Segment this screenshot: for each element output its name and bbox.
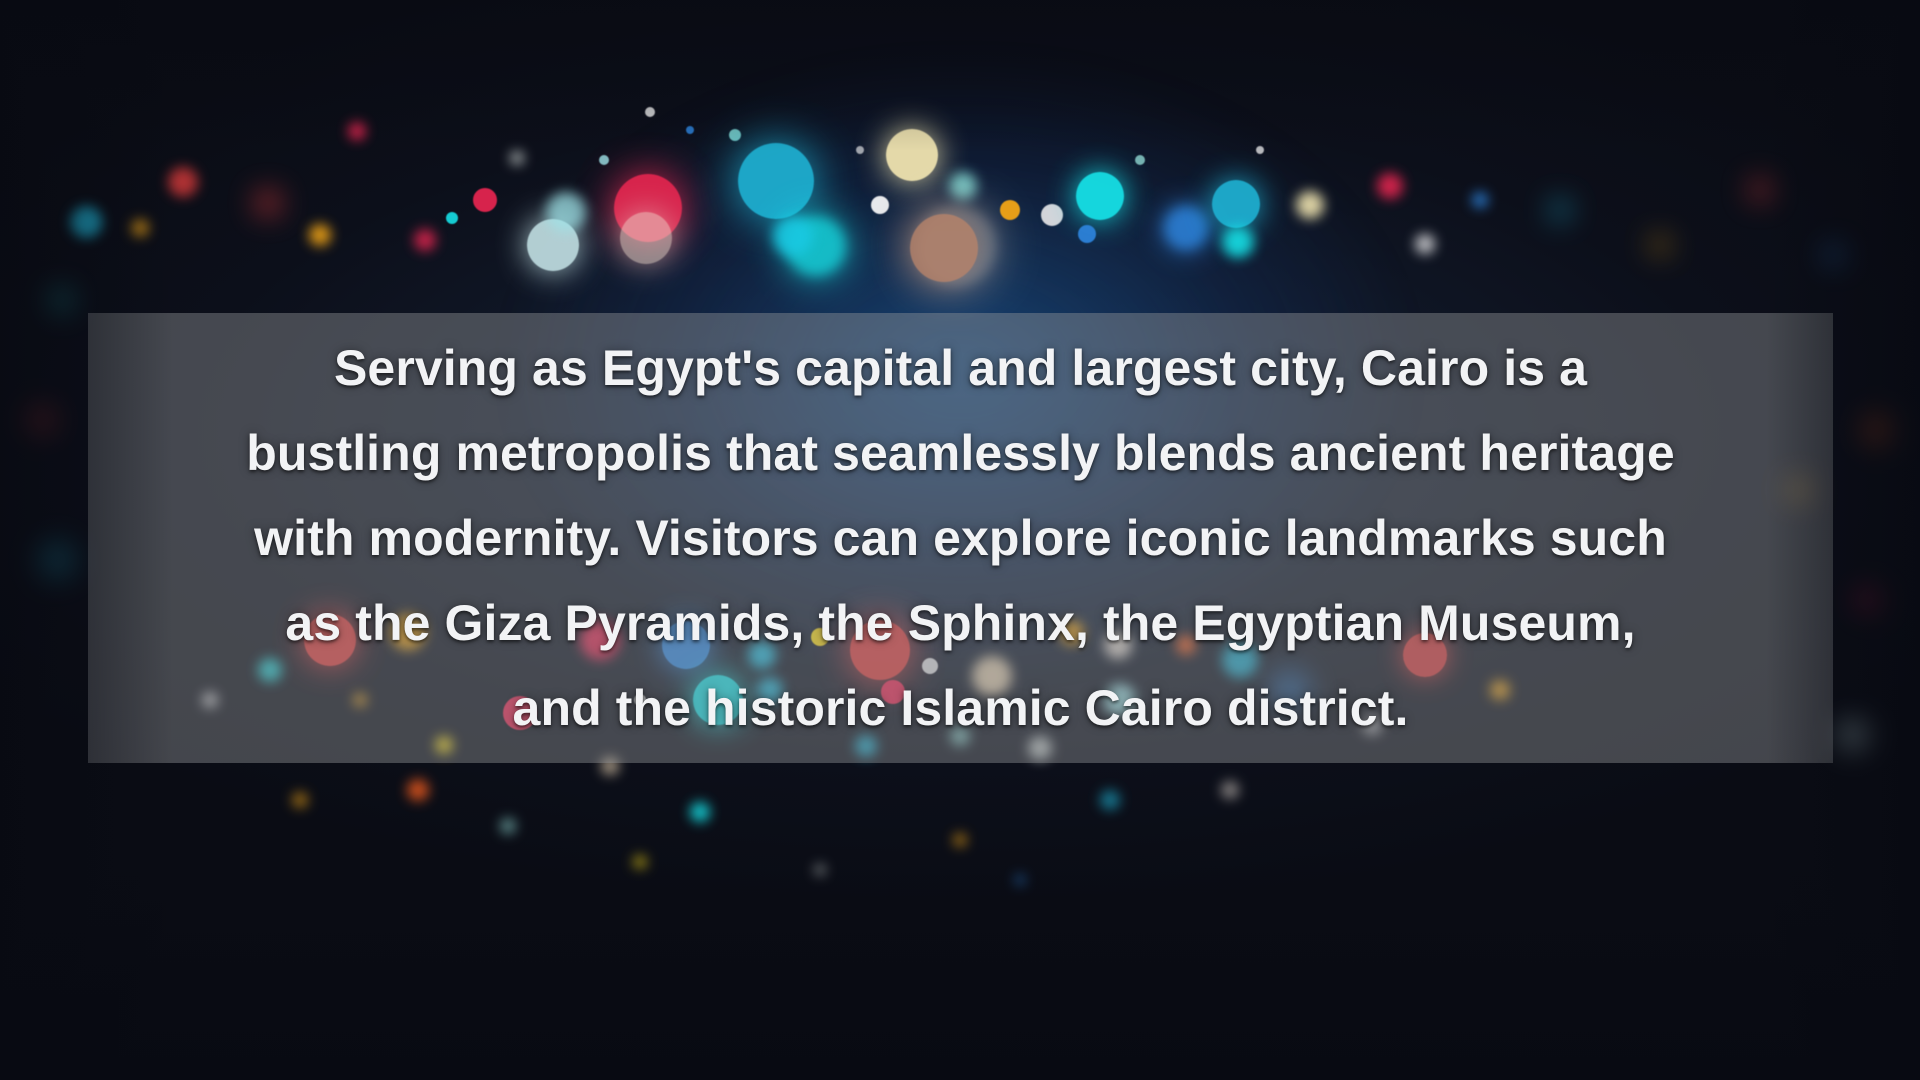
bokeh-dot [1078,225,1096,243]
bokeh-dot [686,126,694,134]
bokeh-dot [1839,719,1871,751]
bokeh-dot [546,192,586,232]
bokeh-dot [1041,204,1063,226]
bokeh-dot [35,540,75,580]
bokeh-dot [1014,874,1026,886]
bokeh-dot [871,196,889,214]
bokeh-dot [348,122,366,140]
bokeh-dot [599,155,609,165]
bokeh-dot [309,224,331,246]
bokeh-dot [1076,172,1124,220]
bokeh-dot [1222,226,1254,258]
bokeh-dot [949,172,977,200]
bokeh-banner-image: Serving as Egypt's capital and largest c… [0,0,1920,1080]
bokeh-dot [814,864,826,876]
bokeh-dot [407,779,429,801]
bokeh-dot [70,206,102,238]
bokeh-dot [910,214,978,282]
bokeh-dot [1100,790,1120,810]
bokeh-dot [446,212,458,224]
bokeh-dot [690,802,710,822]
bokeh-dot [131,219,149,237]
bokeh-dot [1862,412,1898,448]
bokeh-dot [645,107,655,117]
bokeh-dot [1296,191,1324,219]
bokeh-dot [168,167,198,197]
bokeh-dot [48,288,72,312]
bokeh-dot [510,151,524,165]
bokeh-dot [1221,781,1239,799]
bokeh-dot [738,143,814,219]
bokeh-dot [953,833,967,847]
bokeh-dot [1000,200,1020,220]
bokeh-dot [773,216,813,256]
bokeh-dot [886,129,938,181]
bokeh-dot [1748,178,1772,202]
bokeh-dot [1415,234,1435,254]
bokeh-dot [1825,245,1845,265]
caption-text: Serving as Egypt's capital and largest c… [94,326,1827,751]
bokeh-dot [414,229,436,251]
bokeh-dot [1135,155,1145,165]
bokeh-dot [1856,586,1884,614]
caption-overlay-panel: Serving as Egypt's capital and largest c… [88,313,1833,763]
bokeh-dot [500,818,516,834]
bokeh-dot [633,855,647,869]
bokeh-dot [1472,192,1488,208]
bokeh-dot [473,188,497,212]
bokeh-dot [292,792,308,808]
bokeh-dot [255,190,281,216]
bokeh-dot [1164,206,1208,250]
bokeh-dot [856,146,864,154]
bokeh-dot [24,404,56,436]
bokeh-dot [620,212,672,264]
bokeh-dot [729,129,741,141]
bokeh-dot [1256,146,1264,154]
bokeh-dot [1377,173,1403,199]
bokeh-dot [1651,236,1669,254]
bokeh-dot [1212,180,1260,228]
bokeh-dot [1550,200,1570,220]
